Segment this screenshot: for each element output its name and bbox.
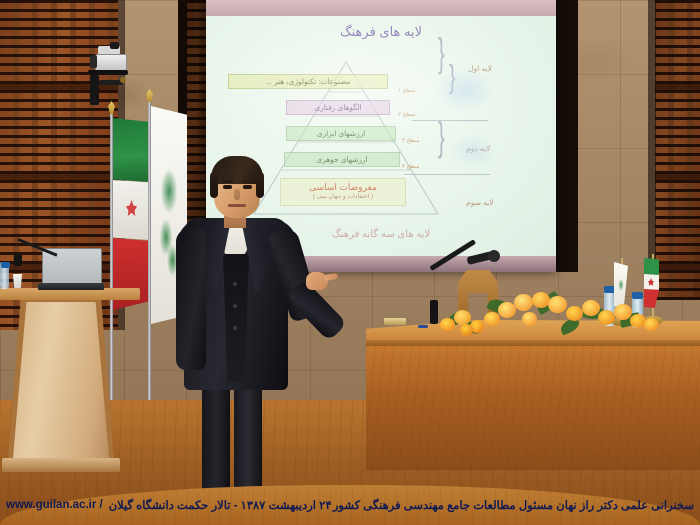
layer-label-1: لایه اول [468,64,492,73]
rose [440,318,455,331]
flower-arrangement [440,290,680,340]
vest-button [233,282,237,286]
presenter-eyebrow-left [221,180,233,183]
laptop-base [38,283,104,290]
podium-base [2,458,120,472]
podium-front-panel [13,302,109,458]
camera-lens [90,55,97,68]
rose [522,312,537,326]
table-grain [366,346,700,470]
iran-flag-green-band [113,118,149,182]
rose [614,304,632,320]
mic-base-clamp [430,300,438,324]
rose [566,306,583,321]
book-on-table [384,318,406,325]
caption-date-venue: ۲۴ اردیبهشت ۱۳۸۷ - تالار حکمت دانشگاه گی… [109,498,332,512]
caption-bar: سخنرانی علمی دکتر راز نهان مسئول مطالعات… [0,494,700,516]
pen-on-table [418,325,428,328]
presenter-sideburn-right [256,172,264,198]
vest-button [233,326,237,330]
pyramid-band-1: مصنوعات: تکنولوژی، هنر ... [228,74,388,89]
pyramid-level-2: سطح ۲ [398,112,415,118]
pyramid-level-3: سطح ۳ [402,138,419,144]
screen-right-recess [556,0,578,272]
layer-label-3: لایه سوم [466,198,494,207]
caption-url[interactable]: www.guilan.ac.ir / [6,499,103,511]
rose [484,312,500,326]
desk-flag-green-2 [644,258,659,275]
camera-bracket-post [90,75,99,105]
water-bottle-cap [1,262,10,268]
presenter-eye-right [243,185,252,189]
slide-title: لایه های فرهنگ [206,24,556,40]
presenter-sideburn-left [210,172,218,198]
rose [514,294,533,311]
pyramid-level-4: سطح ۴ [402,164,419,170]
camera-knob [120,77,126,83]
brace-layer-1: } [438,34,445,74]
rose [548,296,567,313]
presenter-arm-left [176,228,206,370]
divider-layer-1 [412,120,488,121]
rose [454,310,471,325]
brace-layer-1-outer: } [449,62,456,94]
camera-lens-hood [110,42,119,49]
presenter-index-finger [324,273,339,281]
layer-label-2: لایه دوم [466,144,490,153]
rose [460,324,473,336]
lectern-podium [0,288,140,493]
podium-mic-mount [14,254,22,266]
presentation-table [366,320,700,470]
table-front-panel [366,346,700,470]
presenter-eyebrow-right [242,180,254,183]
rose [644,318,659,331]
vest-button [233,304,237,308]
wall-mounted-camera [84,46,132,108]
pyramid-level-1: سطح ۱ [398,88,415,94]
photograph-scene: لایه های فرهنگ مصنوعات: تکنولوژی، هنر ..… [0,0,700,525]
brace-layer-2: } [438,118,445,158]
divider-layer-2 [404,174,490,175]
panel-seam-lines-right [655,0,700,300]
presenter-eye-left [223,185,232,189]
caption-left-group: ۲۴ اردیبهشت ۱۳۸۷ - تالار حکمت دانشگاه گی… [6,498,332,512]
presenter-mouth [228,204,246,207]
screen-top-border [206,0,556,16]
mic-capsule [488,250,500,262]
presenter-nose [234,189,240,200]
acoustic-panel-right [655,0,700,300]
caption-right-text: سخنرانی علمی دکتر راز نهان مسئول مطالعات… [333,498,694,512]
rose [582,300,600,316]
presenter [168,150,338,525]
pyramid-band-2: الگوهای رفتاری [286,100,390,115]
university-flag-pole [148,100,151,412]
pyramid-band-3: ارزشهای ابزاری [286,126,396,141]
rose [598,310,615,325]
